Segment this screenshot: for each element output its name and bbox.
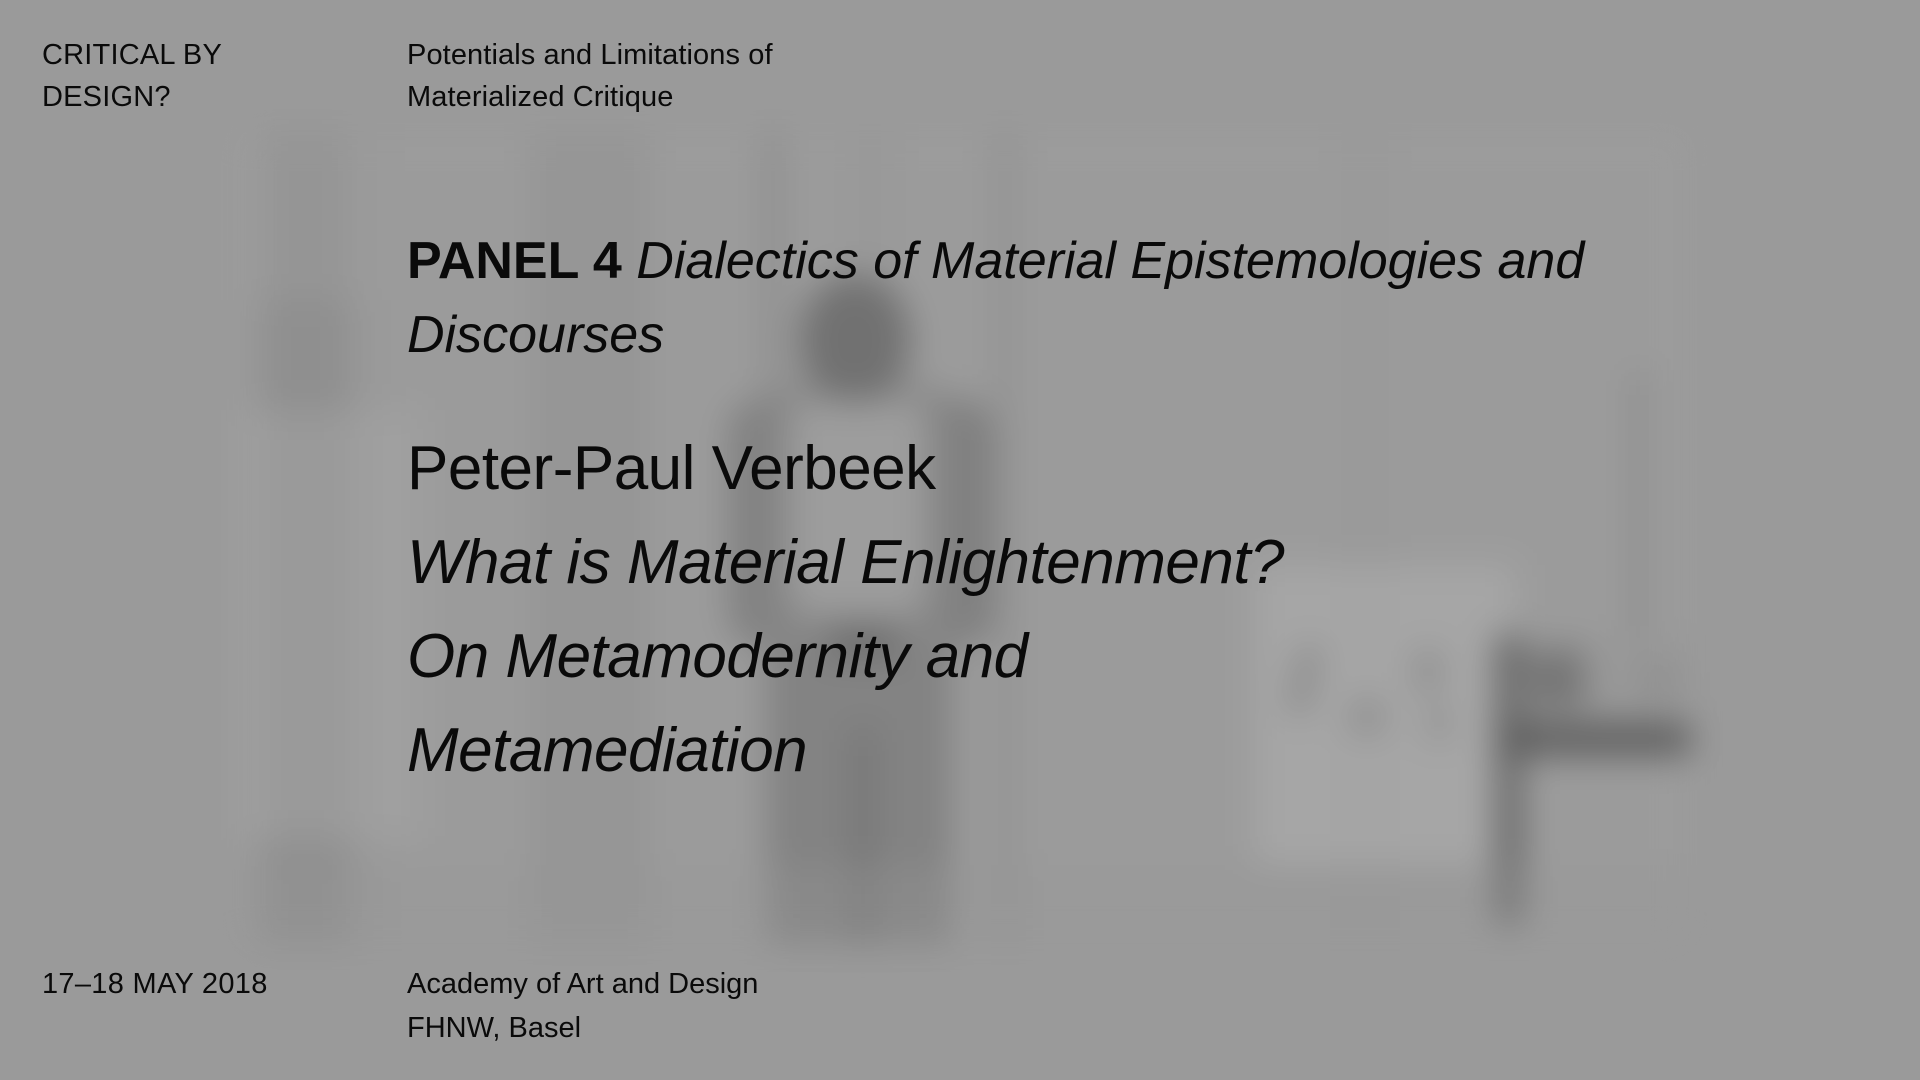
talk-title: What is Material Enlightenment? On Metam… — [407, 516, 1807, 798]
talk-block: Peter-Paul Verbeek What is Material Enli… — [407, 422, 1807, 798]
panel-heading: PANEL 4 Dialectics of Material Epistemol… — [407, 224, 1727, 372]
conference-subject: Potentials and Limitations of Materializ… — [407, 34, 773, 118]
conference-venue: Academy of Art and Design FHNW, Basel — [407, 962, 758, 1050]
panel-label: PANEL 4 — [407, 232, 622, 290]
conference-slide: CRITICAL BY DESIGN? Potentials and Limit… — [0, 0, 1920, 1080]
conference-name: CRITICAL BY DESIGN? — [42, 34, 222, 118]
text-layer: CRITICAL BY DESIGN? Potentials and Limit… — [0, 0, 1920, 1080]
speaker-name: Peter-Paul Verbeek — [407, 422, 1807, 516]
conference-dates: 17–18 MAY 2018 — [42, 962, 268, 1006]
